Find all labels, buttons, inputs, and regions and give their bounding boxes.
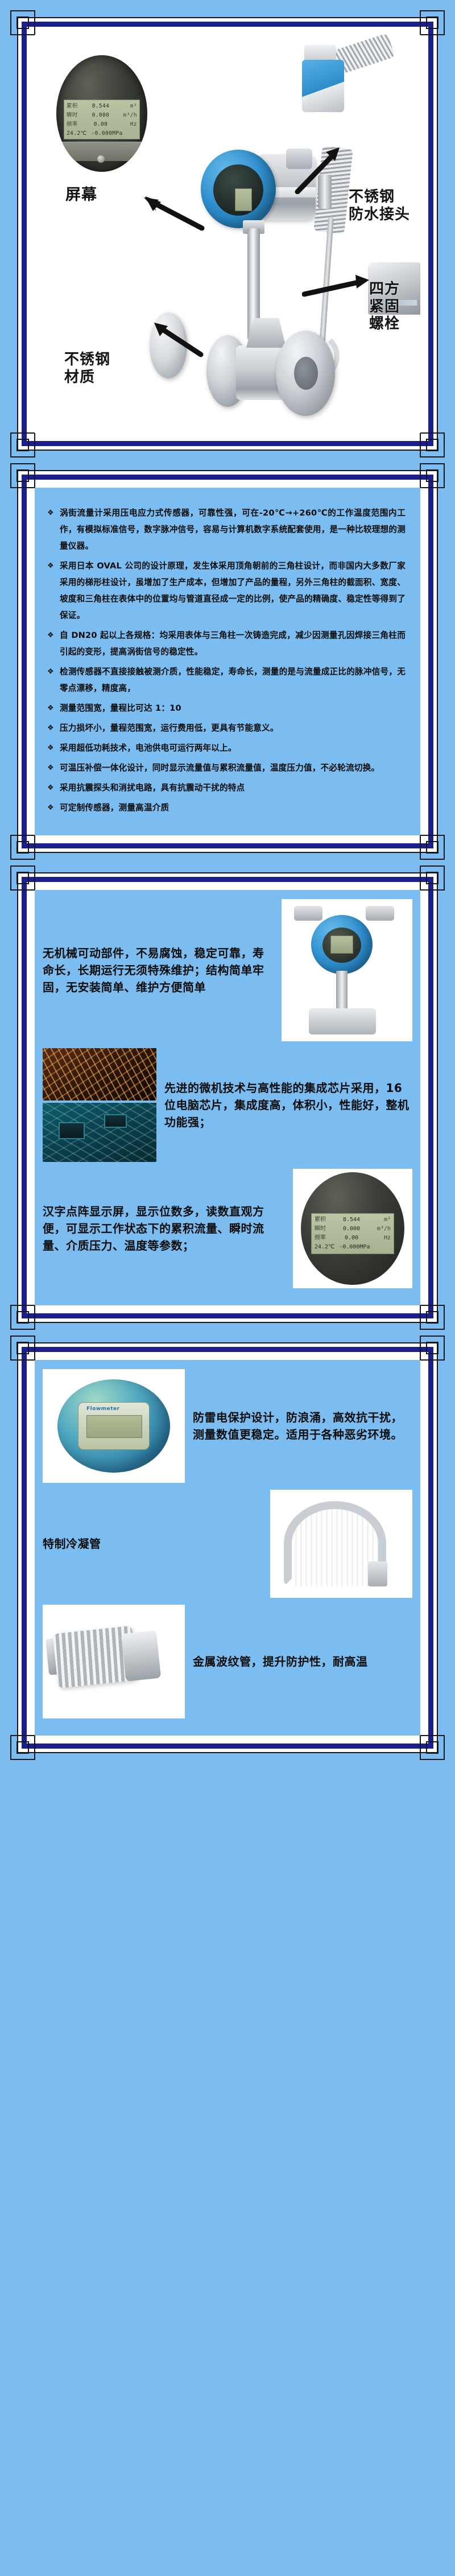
diamond-bullet-icon: ❖ <box>47 558 60 574</box>
hero-frame: 累积 8.544 m³ 瞬时 0.000 m³/h <box>17 17 438 451</box>
display-frequency-unit: Hz <box>374 1234 391 1243</box>
lcd-screw-icon <box>97 155 105 163</box>
product-detail-page: 累积 8.544 m³ 瞬时 0.000 m³/h <box>0 0 455 1767</box>
feature-text-microcomputer: 先进的微机技术与高性能的集成芯片采用，16 位电脑芯片，集成度高，体积小，性能好… <box>164 1079 412 1131</box>
spec-item-text: 涡街流量计采用压电应力式传感器，可靠性强，可在-20℃→+260℃的工作温度范围… <box>60 505 406 554</box>
diamond-bullet-icon: ❖ <box>47 627 60 644</box>
hero-panel: 累积 8.544 m³ 瞬时 0.000 m³/h <box>17 0 438 451</box>
spec-item: ❖ 压力损坏小，量程范围宽，运行费用低，更具有节能意义。 <box>47 720 406 736</box>
brand-label: Flowmeter <box>86 1406 120 1412</box>
diamond-bullet-icon: ❖ <box>47 760 60 776</box>
callout-arrow-bolt <box>302 274 376 300</box>
lcd-instant-value: 0.000 <box>81 111 120 120</box>
transmitter-blue-ring <box>201 150 276 228</box>
features-upper-frame: 无机械可动部件，不易腐蚀，稳定可靠，寿命长，长期运行无须特殊维护；结构简单牢固，… <box>17 872 438 1323</box>
round-housing-photo: Flowmeter <box>43 1369 185 1483</box>
feature-text-no-moving-parts: 无机械可动部件，不易腐蚀，稳定可靠，寿命长，长期运行无须特殊维护；结构简单牢固，… <box>43 945 274 996</box>
spec-item: ❖ 可温压补偿一体化设计，同时显示流量值与累积流量值，温度压力值，不必轮流切换。 <box>47 760 406 776</box>
round-housing-lcd <box>86 1415 142 1438</box>
spec-item-text: 采用超低功耗技术，电池供电可运行两年以上。 <box>60 740 406 756</box>
lcd-magnifier: 累积 8.544 m³ 瞬时 0.000 m³/h <box>56 55 147 172</box>
display-screen: 累积 8.544 m³ 瞬时 0.000 m³/h <box>311 1213 394 1254</box>
display-line-instant: 瞬时 0.000 m³/h <box>315 1225 391 1234</box>
callout-arrow-material <box>146 318 209 359</box>
specs-frame-inner: ❖ 涡街流量计采用压电应力式传感器，可靠性强，可在-20℃→+260℃的工作温度… <box>22 475 433 848</box>
pcb-photo <box>43 1103 156 1162</box>
transmitter-window <box>322 928 361 963</box>
meter-body <box>192 331 334 416</box>
condenser-coil-photo <box>270 1490 412 1598</box>
circuit-traces <box>43 1048 156 1101</box>
spec-item-text: 测量范围宽，量程比可达 1：10 <box>60 700 406 716</box>
transmitter-stem <box>336 971 348 1013</box>
pcb-chip-icon <box>104 1114 127 1128</box>
diamond-bullet-icon: ❖ <box>47 700 60 716</box>
display-instant-unit: m³/h <box>374 1225 391 1234</box>
spec-item-text: 采用日本 OVAL 公司的设计原理，发生体采用顶角朝前的三角柱设计，而非国内大多… <box>60 558 406 624</box>
specs-panel: ❖ 涡街流量计采用压电应力式传感器，可靠性强，可在-20℃→+260℃的工作温度… <box>17 470 438 853</box>
transmitter-window <box>213 164 263 216</box>
transmitter-mini-lcd <box>330 935 353 954</box>
specs-frame: ❖ 涡街流量计采用压电应力式传感器，可靠性强，可在-20℃→+260℃的工作温度… <box>17 470 438 853</box>
features-lower-panel: Flowmeter 防雷电保护设计，防浪涌，高效抗干扰，测量数值更稳定。适用于各… <box>17 1342 438 1753</box>
transmitter-mini-lcd <box>235 188 252 211</box>
lcd-line-instant: 瞬时 0.000 m³/h <box>67 111 137 120</box>
spec-item: ❖ 涡街流量计采用压电应力式传感器，可靠性强，可在-20℃→+260℃的工作温度… <box>47 505 406 554</box>
round-housing-face: Flowmeter <box>78 1402 150 1450</box>
hero-content: 累积 8.544 m³ 瞬时 0.000 m³/h <box>35 35 420 433</box>
callout-label-screen: 屏幕 <box>65 186 97 204</box>
lcd-total-value: 8.544 <box>81 102 120 111</box>
flowmeter-photo: 累积 8.544 m³ 瞬时 0.000 m³/h <box>35 35 420 433</box>
metal-bellows-photo <box>43 1605 185 1718</box>
callout-label-joint: 不锈钢 防水接头 <box>349 188 410 223</box>
feature-row-condenser-pipe: 特制冷凝管 <box>43 1490 412 1598</box>
circuit-board-photo <box>43 1048 156 1101</box>
transmitter-photo <box>282 899 412 1041</box>
display-frequency-value: 0.00 <box>329 1234 374 1243</box>
feature-text-dot-matrix: 汉字点阵显示屏，显示位数多，读数直观方便，可显示工作状态下的累积流量、瞬时流量、… <box>43 1203 285 1254</box>
spec-item: ❖ 测量范围宽，量程比可达 1：10 <box>47 700 406 716</box>
lcd-frequency-unit: Hz <box>120 120 137 129</box>
diamond-bullet-icon: ❖ <box>47 780 60 796</box>
spec-item: ❖ 采用超低功耗技术，电池供电可运行两年以上。 <box>47 740 406 756</box>
spec-item-text: 压力损坏小，量程范围宽，运行费用低，更具有节能意义。 <box>60 720 406 736</box>
feature-text-metal-bellows: 金属波纹管，提升防护性，耐高温 <box>193 1653 412 1670</box>
feature-text-condenser-pipe: 特制冷凝管 <box>43 1535 262 1552</box>
callout-arrow-joint <box>292 143 354 194</box>
spec-item-text: 可温压补偿一体化设计，同时显示流量值与累积流量值，温度压力值，不必轮流切换。 <box>60 760 406 776</box>
lcd-line-temp-pressure: 24.2℃ -0.000MPa <box>67 129 137 138</box>
spec-item: ❖ 自 DN20 起以上各规格：均采用表体与三角柱一次铸造完成，减少因测量孔因焊… <box>47 627 406 660</box>
display-line-temp-pressure: 24.2℃ -0.000MPa <box>315 1243 391 1252</box>
coil-end-fitting <box>368 1561 387 1586</box>
feature-row-metal-bellows: 金属波纹管，提升防护性，耐高温 <box>43 1605 412 1718</box>
lcd-temperature-value: 24.2℃ <box>67 129 87 138</box>
lcd-instant-label: 瞬时 <box>67 111 81 120</box>
pcb-chip-icon <box>59 1122 85 1139</box>
diamond-bullet-icon: ❖ <box>47 505 60 521</box>
bottom-spacer <box>0 1753 455 1767</box>
callout-label-material: 不锈钢 材质 <box>64 351 110 386</box>
display-total-label: 累积 <box>315 1215 329 1225</box>
spec-item-text: 可定制传感器，测量高温介质 <box>60 799 406 816</box>
display-housing: 累积 8.544 m³ 瞬时 0.000 m³/h <box>301 1172 404 1285</box>
transmitter-shoulder-left <box>294 906 322 921</box>
feature-row-microcomputer: 先进的微机技术与高性能的集成芯片采用，16 位电脑芯片，集成度高，体积小，性能好… <box>43 1048 412 1162</box>
display-temperature-value: 24.2℃ <box>315 1243 334 1252</box>
display-instant-label: 瞬时 <box>315 1225 329 1234</box>
lcd-frequency-label: 频率 <box>67 120 81 129</box>
lcd-line-total: 累积 8.544 m³ <box>67 102 137 111</box>
diamond-bullet-icon: ❖ <box>47 799 60 816</box>
transmitter-blue-ring <box>311 915 373 974</box>
lcd-display-photo: 累积 8.544 m³ 瞬时 0.000 m³/h <box>293 1169 412 1288</box>
spec-item: ❖ 采用日本 OVAL 公司的设计原理，发生体采用顶角朝前的三角柱设计，而非国内… <box>47 558 406 624</box>
features-upper-content: 无机械可动部件，不易腐蚀，稳定可靠，寿命长，长期运行无须特殊维护；结构简单牢固，… <box>35 890 420 1305</box>
features-upper-frame-inner: 无机械可动部件，不易腐蚀，稳定可靠，寿命长，长期运行无须特殊维护；结构简单牢固，… <box>22 877 433 1318</box>
lcd-total-unit: m³ <box>120 102 137 111</box>
hero-frame-inner: 累积 8.544 m³ 瞬时 0.000 m³/h <box>22 22 433 446</box>
display-total-value: 8.544 <box>329 1215 374 1225</box>
spec-item: ❖ 可定制传感器，测量高温介质 <box>47 799 406 816</box>
lcd-instant-unit: m³/h <box>120 111 137 120</box>
feature-row-no-moving-parts: 无机械可动部件，不易腐蚀，稳定可靠，寿命长，长期运行无须特殊维护；结构简单牢固，… <box>43 899 412 1041</box>
display-frequency-label: 频率 <box>315 1234 329 1243</box>
bellows-cap <box>121 1630 161 1681</box>
flange-right <box>276 331 335 416</box>
transmitter-flange <box>309 1008 376 1034</box>
stainless-waterproof-joint <box>302 60 344 112</box>
features-lower-content: Flowmeter 防雷电保护设计，防浪涌，高效抗干扰，测量数值更稳定。适用于各… <box>35 1360 420 1736</box>
spec-item: ❖ 检测传感器不直接接触被测介质，性能稳定，寿命长，测量的是与流量成正比的脉冲信… <box>47 663 406 696</box>
round-housing-case: Flowmeter <box>57 1379 170 1473</box>
display-line-frequency: 频率 0.00 Hz <box>315 1234 391 1243</box>
lcd-frequency-value: 0.00 <box>81 120 120 129</box>
feature-row-lightning-protection: Flowmeter 防雷电保护设计，防浪涌，高效抗干扰，测量数值更稳定。适用于各… <box>43 1369 412 1483</box>
features-upper-panel: 无机械可动部件，不易腐蚀，稳定可靠，寿命长，长期运行无须特殊维护；结构简单牢固，… <box>17 872 438 1323</box>
spec-item: ❖ 采用抗震探头和消扰电路，具有抗震动干扰的特点 <box>47 780 406 796</box>
callout-label-bolt: 四方 紧固 螺栓 <box>369 281 400 333</box>
display-instant-value: 0.000 <box>329 1225 374 1234</box>
features-lower-frame-inner: Flowmeter 防雷电保护设计，防浪涌，高效抗干扰，测量数值更稳定。适用于各… <box>22 1347 433 1749</box>
feature-row-dot-matrix: 汉字点阵显示屏，显示位数多，读数直观方便，可显示工作状态下的累积流量、瞬时流量、… <box>43 1169 412 1288</box>
diamond-bullet-icon: ❖ <box>47 720 60 736</box>
display-line-total: 累积 8.544 m³ <box>315 1215 391 1225</box>
spec-item-text: 采用抗震探头和消扰电路，具有抗震动干扰的特点 <box>60 780 406 796</box>
transmitter-shoulder-right <box>366 906 394 921</box>
display-pressure-value: -0.000MPa <box>339 1243 370 1252</box>
callout-arrow-screen <box>131 194 205 234</box>
feature-text-lightning-protection: 防雷电保护设计，防浪涌，高效抗干扰，测量数值更稳定。适用于各种恶劣环境。 <box>193 1409 412 1443</box>
specs-list: ❖ 涡街流量计采用压电应力式传感器，可靠性强，可在-20℃→+260℃的工作温度… <box>35 488 420 835</box>
spec-item-text: 检测传感器不直接接触被测介质，性能稳定，寿命长，测量的是与流量成正比的脉冲信号，… <box>60 663 406 696</box>
lcd-total-label: 累积 <box>67 102 81 111</box>
lcd-screen: 累积 8.544 m³ 瞬时 0.000 m³/h <box>64 100 140 139</box>
diamond-bullet-icon: ❖ <box>47 740 60 756</box>
lcd-line-frequency: 频率 0.00 Hz <box>67 120 137 129</box>
diamond-bullet-icon: ❖ <box>47 663 60 680</box>
display-total-unit: m³ <box>374 1215 391 1225</box>
spec-item-text: 自 DN20 起以上各规格：均采用表体与三角柱一次铸造完成，减少因测量孔因焊接三… <box>60 627 406 660</box>
lcd-pressure-value: -0.000MPa <box>92 129 123 138</box>
features-lower-frame: Flowmeter 防雷电保护设计，防浪涌，高效抗干扰，测量数值更稳定。适用于各… <box>17 1342 438 1753</box>
